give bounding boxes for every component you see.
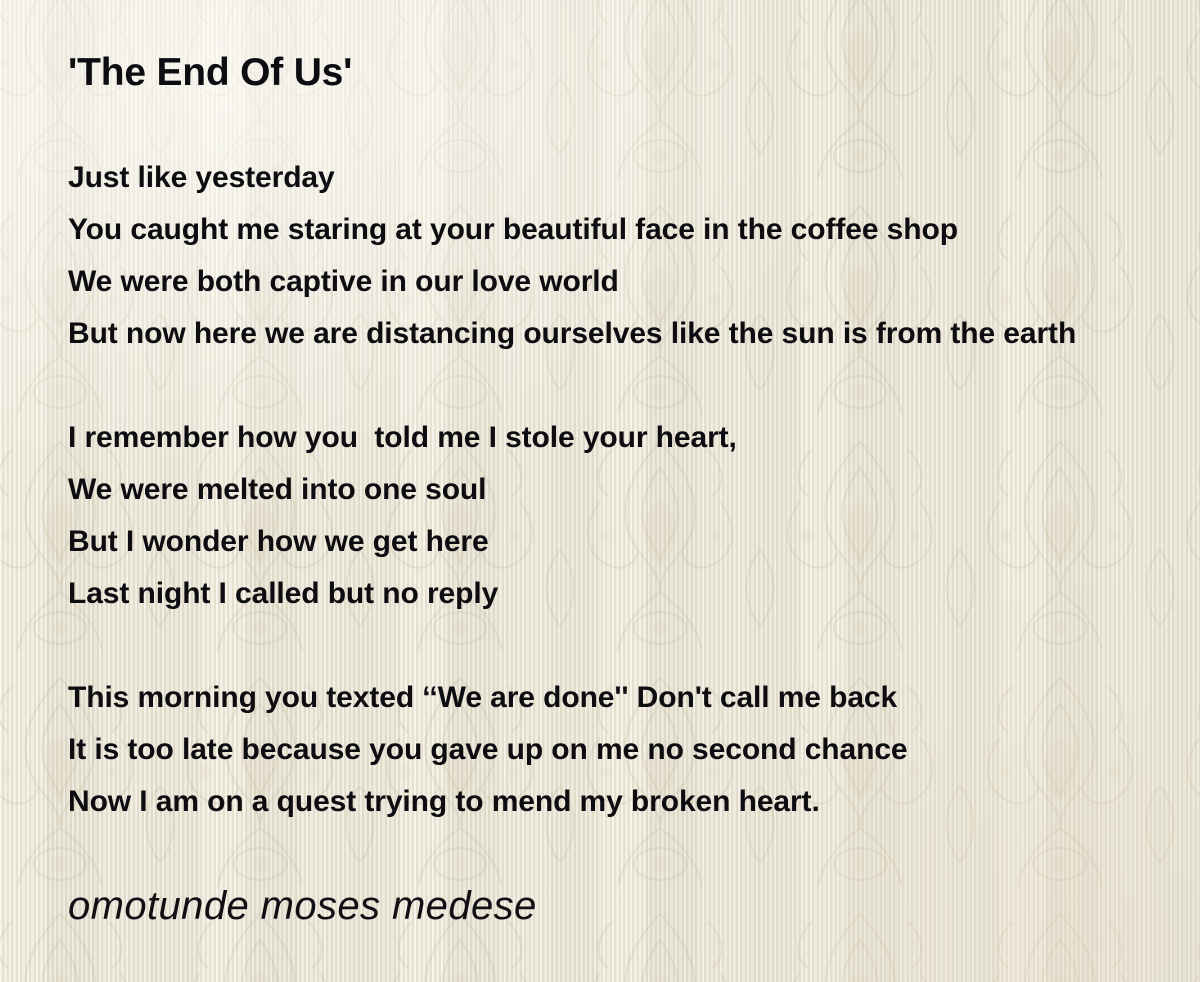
poem-line: But I wonder how we get here bbox=[68, 516, 1188, 568]
poem-line: Last night I called but no reply bbox=[68, 568, 1188, 620]
poem-text-container: 'The End Of Us' Just like yesterday You … bbox=[68, 0, 1188, 982]
poem-author-signature: omotunde moses medese bbox=[68, 880, 537, 932]
poem-line: This morning you texted ‘‘We are done'' … bbox=[68, 672, 1188, 724]
poem-line: I remember how you told me I stole your … bbox=[68, 412, 1188, 464]
poem-image-card: 'The End Of Us' Just like yesterday You … bbox=[0, 0, 1200, 982]
poem-stanza: This morning you texted ‘‘We are done'' … bbox=[68, 672, 1188, 828]
poem-line: But now here we are distancing ourselves… bbox=[68, 308, 1188, 360]
poem-line: It is too late because you gave up on me… bbox=[68, 724, 1188, 776]
poem-line: We were both captive in our love world bbox=[68, 256, 1188, 308]
poem-stanza: I remember how you told me I stole your … bbox=[68, 412, 1188, 620]
poem-line: Just like yesterday bbox=[68, 152, 1188, 204]
poem-stanza: Just like yesterday You caught me starin… bbox=[68, 152, 1188, 360]
poem-line: We were melted into one soul bbox=[68, 464, 1188, 516]
poem-title: 'The End Of Us' bbox=[68, 50, 352, 96]
poem-stanzas: Just like yesterday You caught me starin… bbox=[68, 152, 1188, 880]
poem-line: You caught me staring at your beautiful … bbox=[68, 204, 1188, 256]
poem-line: Now I am on a quest trying to mend my br… bbox=[68, 776, 1188, 828]
